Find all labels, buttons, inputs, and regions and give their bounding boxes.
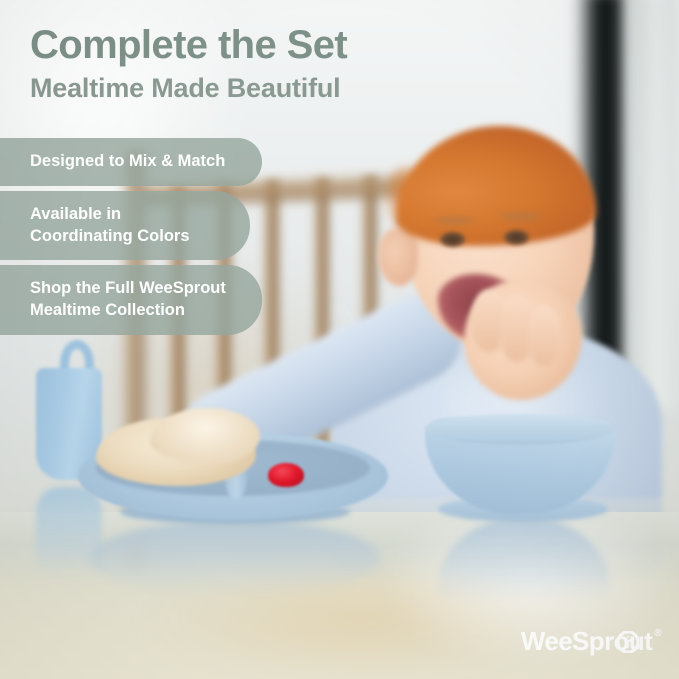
child-ear [378,228,418,286]
feature-pill-shop-collection: Shop the Full WeeSprout Mealtime Collect… [0,265,262,335]
registered-mark: ® [654,629,661,639]
feature-pill-coordinating-colors: Available in Coordinating Colors [0,191,250,261]
brand-logo: WeeSprout ® [521,626,661,657]
feature-pill-list: Designed to Mix & Match Available in Coo… [0,138,300,340]
child-hair [396,126,596,246]
bowl-rim [425,414,615,444]
child-brow [434,216,474,225]
product-lifestyle-image: Complete the Set Mealtime Made Beautiful… [0,0,679,679]
raspberry-food [268,463,304,487]
child-brow [500,212,540,221]
plate-reflection [90,520,380,596]
feature-pill-mix-match: Designed to Mix & Match [0,138,262,186]
sprout-icon [617,629,639,651]
child-eye [440,232,465,247]
child-finger [528,306,560,366]
subheadline: Mealtime Made Beautiful [30,74,340,104]
headline: Complete the Set [30,24,347,66]
child-eye [504,230,529,245]
